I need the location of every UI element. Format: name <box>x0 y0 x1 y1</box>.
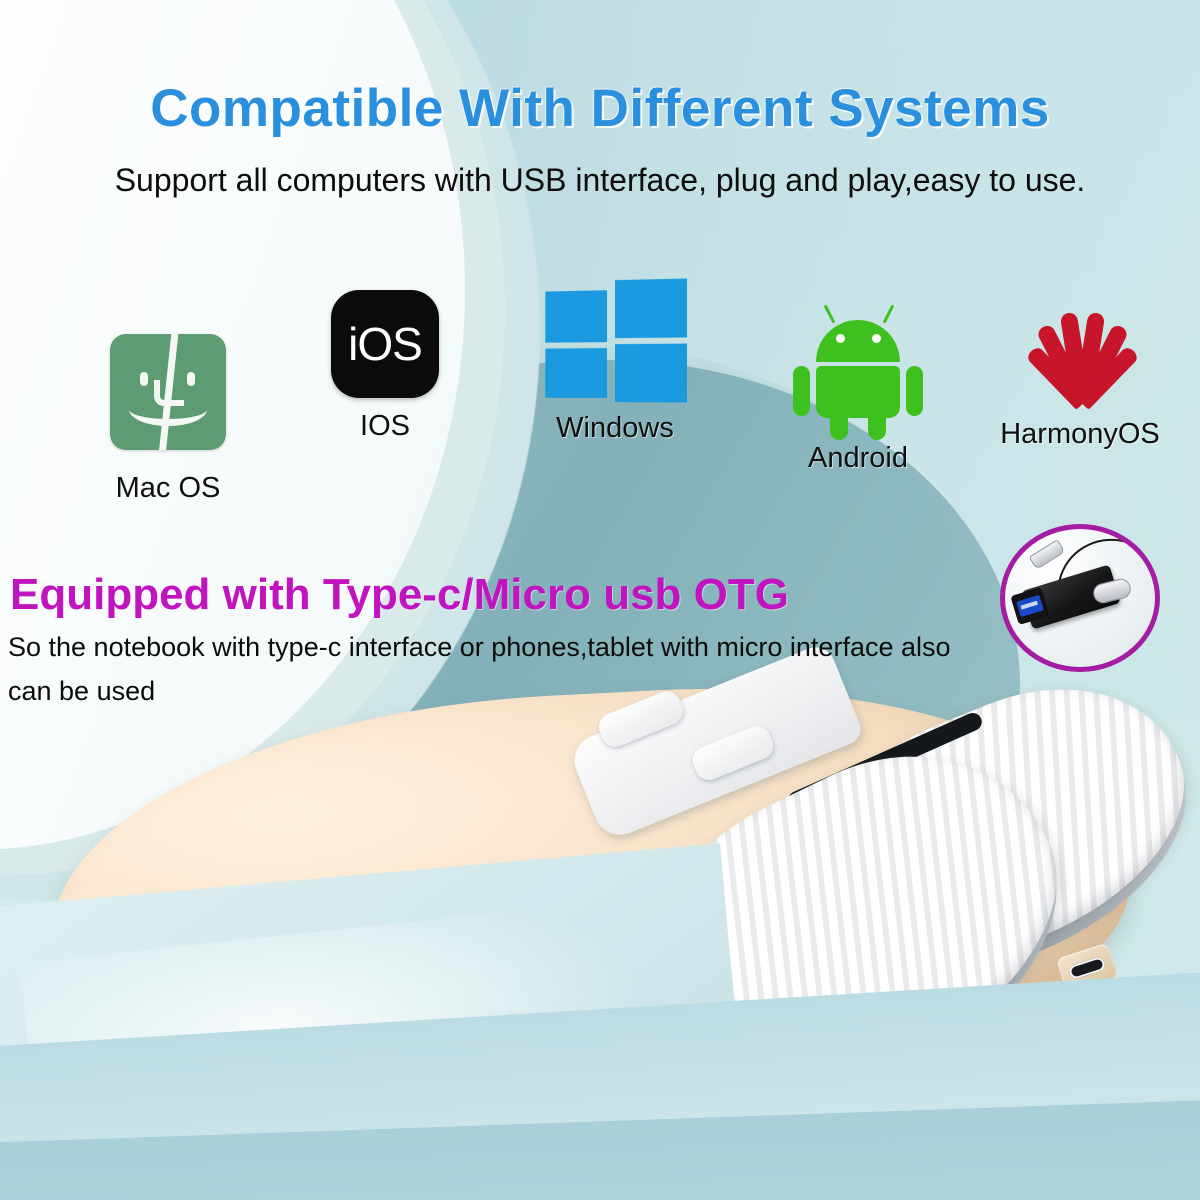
finder-face-icon <box>110 334 226 450</box>
android-antenna-right <box>883 304 895 323</box>
page-subtitle: Support all computers with USB interface… <box>0 162 1200 199</box>
os-label-harmonyos: HarmonyOS <box>960 418 1200 451</box>
windows-pane-top-right <box>615 278 687 338</box>
android-leg-right <box>868 414 886 440</box>
windows-pane-bottom-left <box>545 348 607 398</box>
product-marketing-image: Compatible With Different Systems Suppor… <box>0 0 1200 1200</box>
android-arm-right <box>906 366 923 416</box>
android-eye-left <box>836 334 845 343</box>
os-compatibility-row: Mac OS iOS IOS Windows <box>0 276 1200 546</box>
os-item-android: Android <box>748 306 968 475</box>
usb-c-port-opening <box>1068 956 1107 980</box>
huawei-flower-icon <box>1000 286 1160 410</box>
otg-description-line-1: So the notebook with type-c interface or… <box>8 632 951 663</box>
otg-adapter-icon <box>1000 524 1160 672</box>
android-leg-left <box>830 414 848 440</box>
windows-pane-top-left <box>545 290 607 342</box>
ios-badge-text: iOS <box>348 317 422 371</box>
android-arm-left <box>793 366 810 416</box>
windows-logo-icon <box>545 277 687 404</box>
page-title: Compatible With Different Systems <box>0 78 1200 139</box>
windows-pane-bottom-right <box>615 344 687 403</box>
os-label-mac: Mac OS <box>58 472 278 505</box>
os-item-mac: Mac OS <box>58 334 278 505</box>
ios-badge-icon: iOS <box>331 290 439 398</box>
otg-description-line-2: can be used <box>8 676 155 707</box>
micro-usb-connector <box>1029 539 1066 570</box>
os-label-windows: Windows <box>500 412 730 445</box>
os-item-harmonyos: HarmonyOS <box>960 286 1200 451</box>
os-label-ios: IOS <box>290 410 480 443</box>
finder-eye-right-icon <box>187 372 195 386</box>
os-item-windows: Windows <box>500 282 730 445</box>
android-eye-right <box>872 334 881 343</box>
otg-section-title: Equipped with Type-c/Micro usb OTG <box>10 570 789 620</box>
android-torso <box>816 366 900 418</box>
android-antenna-left <box>824 304 836 323</box>
finder-eye-left-icon <box>140 372 148 386</box>
android-robot-icon <box>788 306 928 430</box>
android-head <box>816 320 900 362</box>
os-label-android: Android <box>748 442 968 475</box>
os-item-ios: iOS IOS <box>290 290 480 443</box>
